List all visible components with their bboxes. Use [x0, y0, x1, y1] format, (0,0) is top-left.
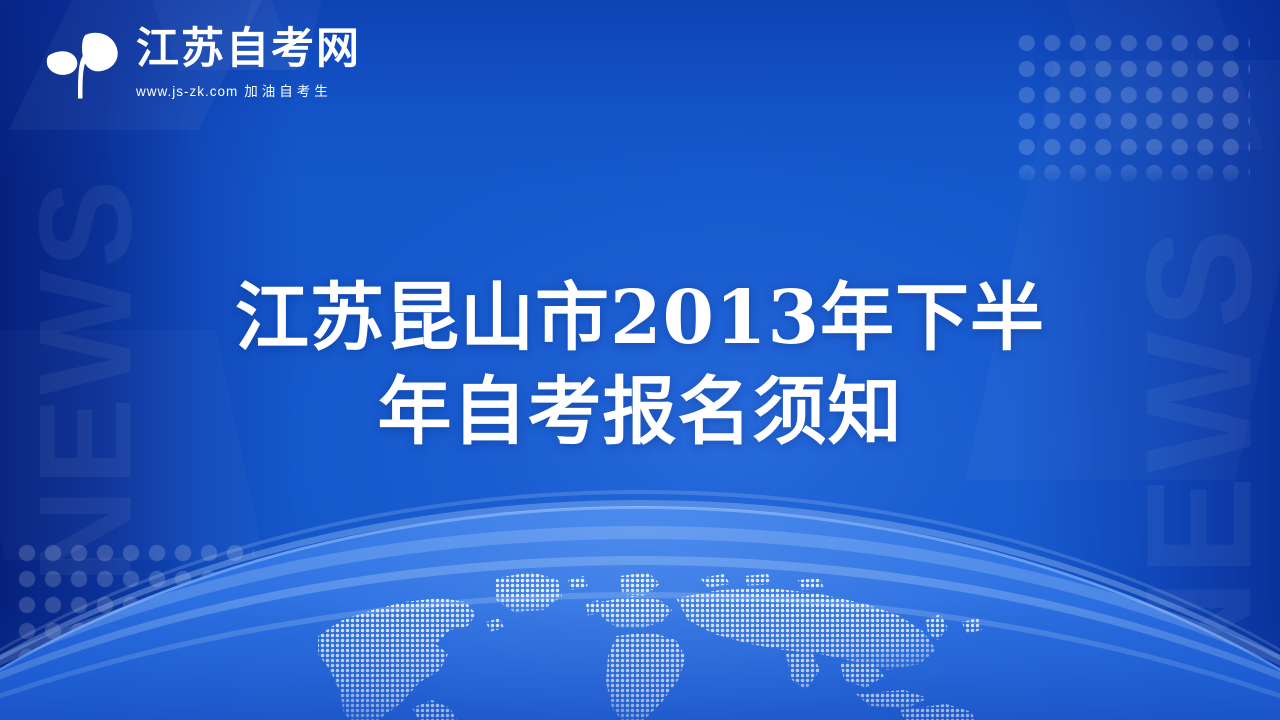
logo-text-block: 江苏自考网 www.js-zk.com加油自考生	[136, 26, 361, 99]
news-cover-banner: NEWS NEWS	[0, 0, 1280, 720]
page-title: 江苏昆山市2013年下半 年自考报名须知	[200, 272, 1080, 460]
globe-rim	[0, 500, 1280, 720]
site-logo[interactable]: 江苏自考网 www.js-zk.com加油自考生	[38, 24, 361, 102]
page-title-line-2: 年自考报名须知	[200, 366, 1080, 460]
sprout-leaf-icon	[38, 24, 124, 102]
site-slogan: 加油自考生	[244, 84, 332, 99]
site-name: 江苏自考网	[136, 26, 361, 72]
site-url: www.js-zk.com	[136, 84, 238, 99]
globe-container	[0, 470, 1280, 720]
site-tagline: www.js-zk.com加油自考生	[136, 80, 361, 100]
page-title-line-1: 江苏昆山市2013年下半	[200, 272, 1080, 366]
